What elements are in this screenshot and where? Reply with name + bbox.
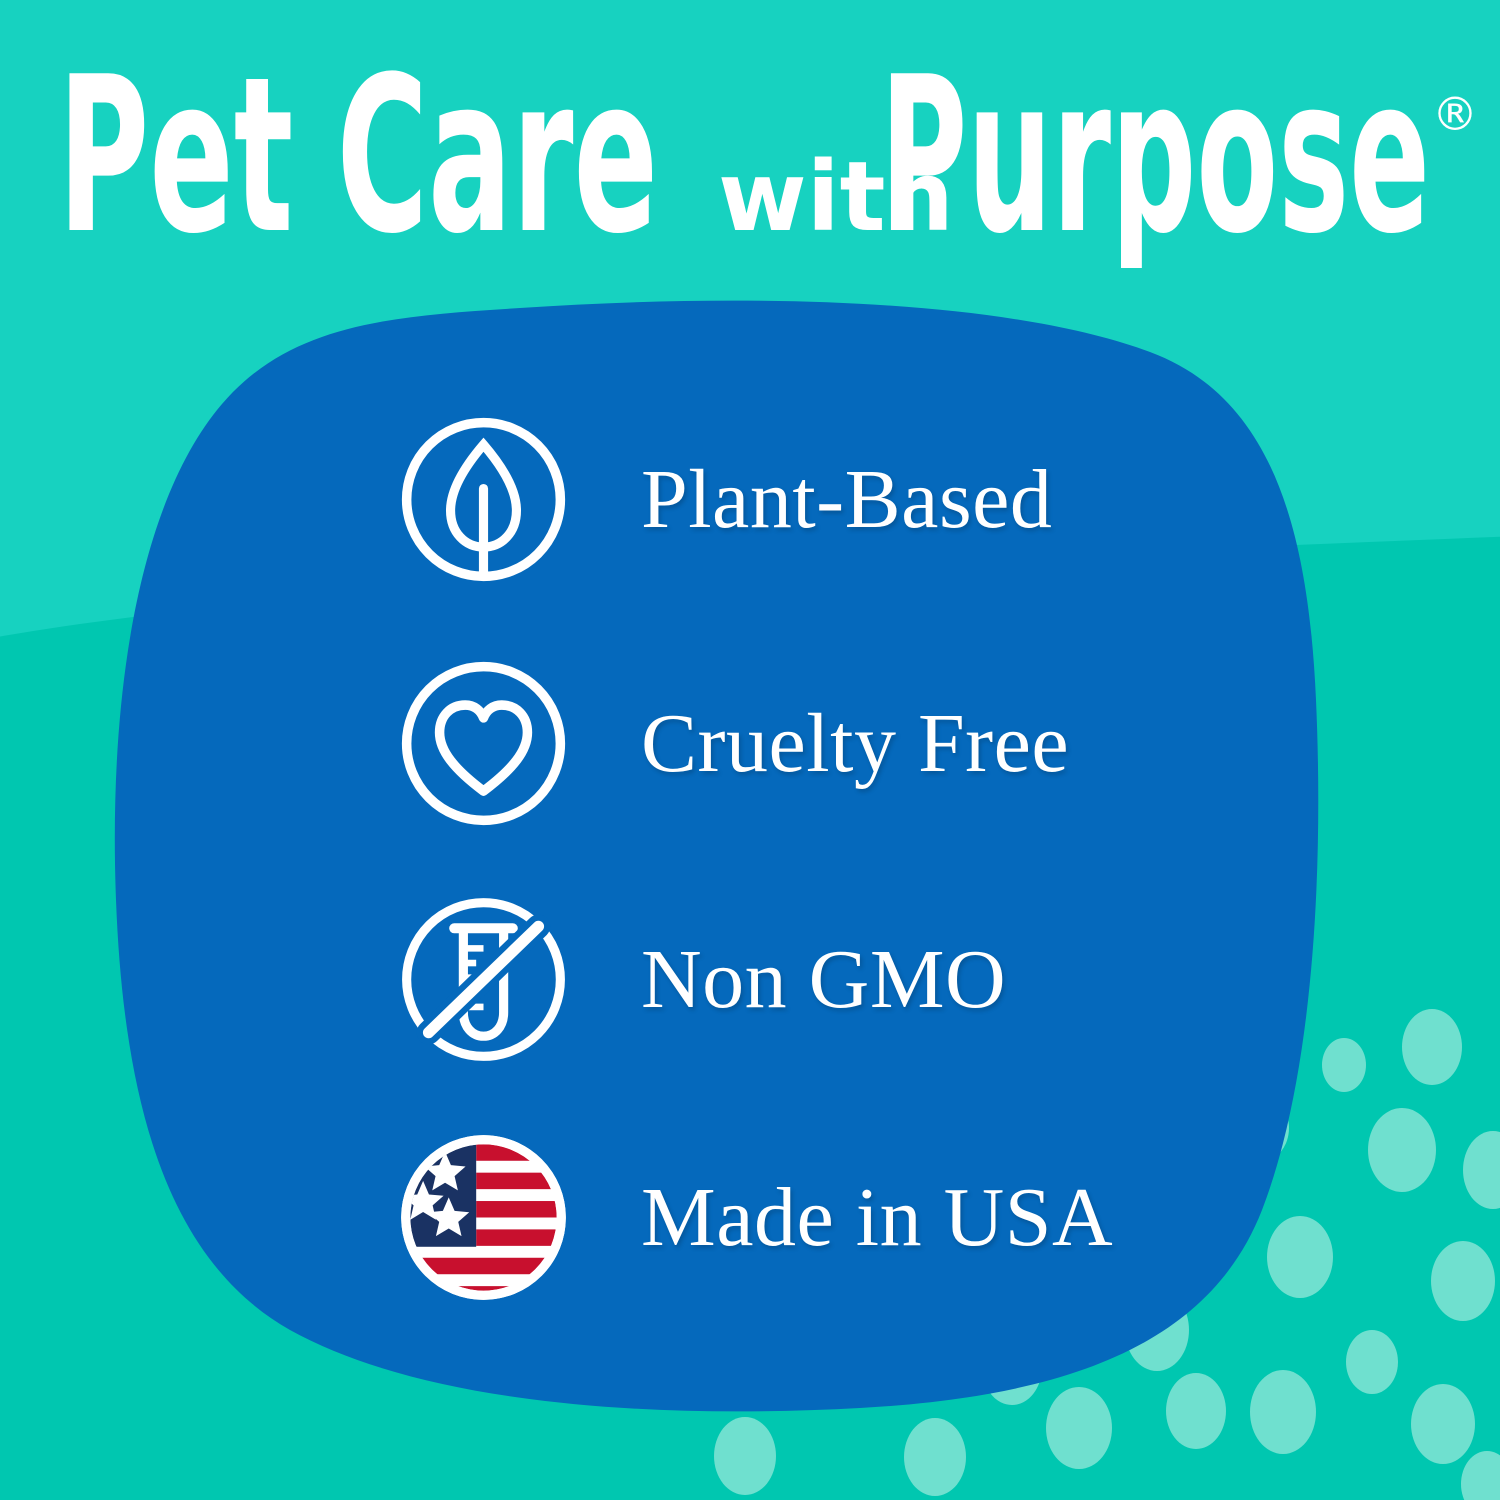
leaf-icon — [392, 408, 575, 591]
feature-label: Cruelty Free — [641, 702, 1069, 786]
feature-row-non-gmo: Non GMO — [392, 888, 1006, 1071]
feature-label: Made in USA — [641, 1176, 1113, 1260]
promo-banner: Pet Care with Purpose® Plant-Based Cruel… — [0, 0, 1500, 1500]
feature-label: Plant-Based — [641, 458, 1052, 542]
no-gmo-icon — [392, 888, 575, 1071]
feature-list: Plant-Based Cruelty Free — [0, 0, 1500, 1500]
feature-row-cruelty-free: Cruelty Free — [392, 652, 1069, 835]
heart-icon — [392, 652, 575, 835]
feature-label: Non GMO — [641, 938, 1006, 1022]
feature-row-plant-based: Plant-Based — [392, 408, 1052, 591]
feature-row-made-in-usa: Made in USA — [392, 1126, 1113, 1309]
usa-flag-icon — [392, 1126, 575, 1309]
